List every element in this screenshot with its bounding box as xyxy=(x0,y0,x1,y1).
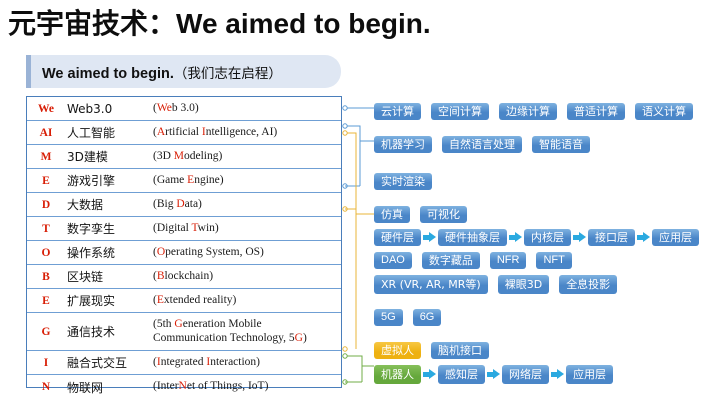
row-abbr: M xyxy=(27,151,65,163)
tag-item[interactable]: 内核层 xyxy=(524,229,571,246)
row-g: 5G6G xyxy=(374,309,441,326)
arrow-right-icon xyxy=(423,369,436,380)
row-term-en: (Game Engine) xyxy=(153,174,341,188)
arrow-right-icon xyxy=(637,232,650,243)
row-abbr: B xyxy=(27,271,65,283)
row-ai: 机器学习自然语言处理智能语音 xyxy=(374,136,590,153)
row-term-zh: 人工智能 xyxy=(65,124,153,141)
row-abbr: D xyxy=(27,199,65,211)
tag-item[interactable]: 接口层 xyxy=(588,229,635,246)
row-abbr: I xyxy=(27,357,65,369)
table-row: G通信技术(5th Generation Mobile Communicatio… xyxy=(27,313,341,351)
row-term-en: (Artificial Intelligence, AI) xyxy=(153,126,341,140)
row-term-en: (Web 3.0) xyxy=(153,102,341,116)
arrow-right-icon xyxy=(487,369,500,380)
subtitle-zh: （我们志在启程） xyxy=(174,66,282,82)
connector-path xyxy=(345,126,374,186)
page-title: 元宇宙技术：We aimed to begin. xyxy=(8,2,431,42)
tag-item[interactable]: 语义计算 xyxy=(635,103,693,120)
table-row: T数字孪生(Digital Twin) xyxy=(27,217,341,241)
table-row: N物联网(InterNet of Things, IoT) xyxy=(27,375,341,399)
tag-item[interactable]: 硬件层 xyxy=(374,229,421,246)
tag-item[interactable]: 虚拟人 xyxy=(374,342,421,359)
row-sim: 仿真可视化 xyxy=(374,206,467,223)
tag-item[interactable]: 仿真 xyxy=(374,206,410,223)
tag-item[interactable]: NFT xyxy=(536,252,571,269)
tag-item[interactable]: 裸眼3D xyxy=(498,275,549,294)
tag-item[interactable]: 可视化 xyxy=(420,206,467,223)
tag-item[interactable]: DAO xyxy=(374,252,412,269)
connector-node xyxy=(343,131,347,135)
connector-node xyxy=(343,347,347,351)
connector-node xyxy=(343,354,347,358)
arrow-right-icon xyxy=(573,232,586,243)
table-row: M3D建模(3D Modeling) xyxy=(27,145,341,169)
row-term-en: (5th Generation Mobile Communication Tec… xyxy=(153,318,341,345)
row-term-zh: 物联网 xyxy=(65,379,153,396)
row-term-zh: 融合式交互 xyxy=(65,354,153,371)
row-abbr: E xyxy=(27,295,65,307)
row-term-en: (Blockchain) xyxy=(153,270,341,284)
connector-node xyxy=(343,184,347,188)
table-row: D大数据(Big Data) xyxy=(27,193,341,217)
tag-item[interactable]: XR (VR, AR, MR等) xyxy=(374,275,488,294)
row-term-en: (InterNet of Things, IoT) xyxy=(153,380,341,394)
tag-item[interactable]: 空间计算 xyxy=(431,103,489,120)
row-abbr: O xyxy=(27,247,65,259)
row-dao: DAO数字藏品NFRNFT xyxy=(374,252,572,269)
row-term-zh: 数字孪生 xyxy=(65,220,153,237)
tag-item[interactable]: 云计算 xyxy=(374,103,421,120)
tag-item[interactable]: 实时渲染 xyxy=(374,173,432,190)
row-term-zh: 游戏引擎 xyxy=(65,172,153,189)
subtitle: We aimed to begin.（我们志在启程） xyxy=(42,62,282,82)
row-term-en: (Integrated Interaction) xyxy=(153,356,341,370)
row-abbr: G xyxy=(27,326,65,338)
row-abbr: N xyxy=(27,381,65,393)
tag-item[interactable]: NFR xyxy=(490,252,527,269)
connector-node xyxy=(343,207,347,211)
table-row: WeWeb3.0(Web 3.0) xyxy=(27,97,341,121)
connector-node xyxy=(343,106,347,110)
tag-item[interactable]: 脑机接口 xyxy=(431,342,489,359)
tag-item[interactable]: 应用层 xyxy=(652,229,699,246)
page-title-cjk: 元宇宙技术 xyxy=(8,7,148,40)
tag-item[interactable]: 6G xyxy=(413,309,442,326)
connector-path xyxy=(345,356,374,382)
tech-table: WeWeb3.0(Web 3.0)AI人工智能(Artificial Intel… xyxy=(26,96,342,388)
row-term-en: (Big Data) xyxy=(153,198,341,212)
row-term-en: (3D Modeling) xyxy=(153,150,341,164)
row-abbr: We xyxy=(27,103,65,115)
tag-item[interactable]: 网络层 xyxy=(502,365,549,384)
tag-item[interactable]: 数字藏品 xyxy=(422,252,480,269)
page-title-en: We aimed to begin. xyxy=(176,8,431,39)
page-title-colon: ： xyxy=(148,7,176,40)
table-row: AI人工智能(Artificial Intelligence, AI) xyxy=(27,121,341,145)
row-abbr: E xyxy=(27,175,65,187)
row-layers: 硬件层硬件抽象层内核层接口层应用层 xyxy=(374,229,699,246)
tag-item[interactable]: 自然语言处理 xyxy=(442,136,522,153)
tag-item[interactable]: 边缘计算 xyxy=(499,103,557,120)
row-avatar: 虚拟人脑机接口 xyxy=(374,342,489,359)
arrow-right-icon xyxy=(551,369,564,380)
tag-item[interactable]: 硬件抽象层 xyxy=(438,229,507,246)
tag-item[interactable]: 5G xyxy=(374,309,403,326)
row-robot: 机器人感知层网络层应用层 xyxy=(374,366,613,383)
row-term-zh: 大数据 xyxy=(65,196,153,213)
row-term-zh: 通信技术 xyxy=(65,323,153,340)
slide-root: 元宇宙技术：We aimed to begin. We aimed to beg… xyxy=(0,0,710,400)
tag-panel: 云计算空间计算边缘计算普适计算语义计算机器学习自然语言处理智能语音实时渲染仿真可… xyxy=(374,96,706,388)
table-row: I融合式交互(Integrated Interaction) xyxy=(27,351,341,375)
tag-item[interactable]: 应用层 xyxy=(566,365,613,384)
connector-path xyxy=(345,133,374,349)
row-term-zh: 区块链 xyxy=(65,268,153,285)
tag-item[interactable]: 机器学习 xyxy=(374,136,432,153)
tag-item[interactable]: 普适计算 xyxy=(567,103,625,120)
connector-node xyxy=(343,124,347,128)
connector-node xyxy=(343,380,347,384)
tag-item[interactable]: 机器人 xyxy=(374,365,421,384)
tag-item[interactable]: 智能语音 xyxy=(532,136,590,153)
tag-item[interactable]: 感知层 xyxy=(438,365,485,384)
row-term-zh: 3D建模 xyxy=(65,148,153,165)
row-abbr: T xyxy=(27,223,65,235)
row-term-zh: 操作系统 xyxy=(65,244,153,261)
table-row: O操作系统(Operating System, OS) xyxy=(27,241,341,265)
row-xr: XR (VR, AR, MR等)裸眼3D全息投影 xyxy=(374,276,617,293)
row-abbr: AI xyxy=(27,127,65,139)
row-render: 实时渲染 xyxy=(374,173,432,190)
arrow-right-icon xyxy=(423,232,436,243)
table-row: E游戏引擎(Game Engine) xyxy=(27,169,341,193)
table-row: B区块链(Blockchain) xyxy=(27,265,341,289)
row-cloud: 云计算空间计算边缘计算普适计算语义计算 xyxy=(374,103,693,120)
arrow-right-icon xyxy=(509,232,522,243)
table-row: E扩展现实(Extended reality) xyxy=(27,289,341,313)
tag-item[interactable]: 全息投影 xyxy=(559,275,617,294)
row-term-en: (Extended reality) xyxy=(153,294,341,308)
row-term-zh: Web3.0 xyxy=(65,102,153,116)
row-term-en: (Digital Twin) xyxy=(153,222,341,236)
subtitle-accent-bar xyxy=(26,55,31,88)
subtitle-en: We aimed to begin. xyxy=(42,66,174,82)
row-term-zh: 扩展现实 xyxy=(65,292,153,309)
row-term-en: (Operating System, OS) xyxy=(153,246,341,260)
